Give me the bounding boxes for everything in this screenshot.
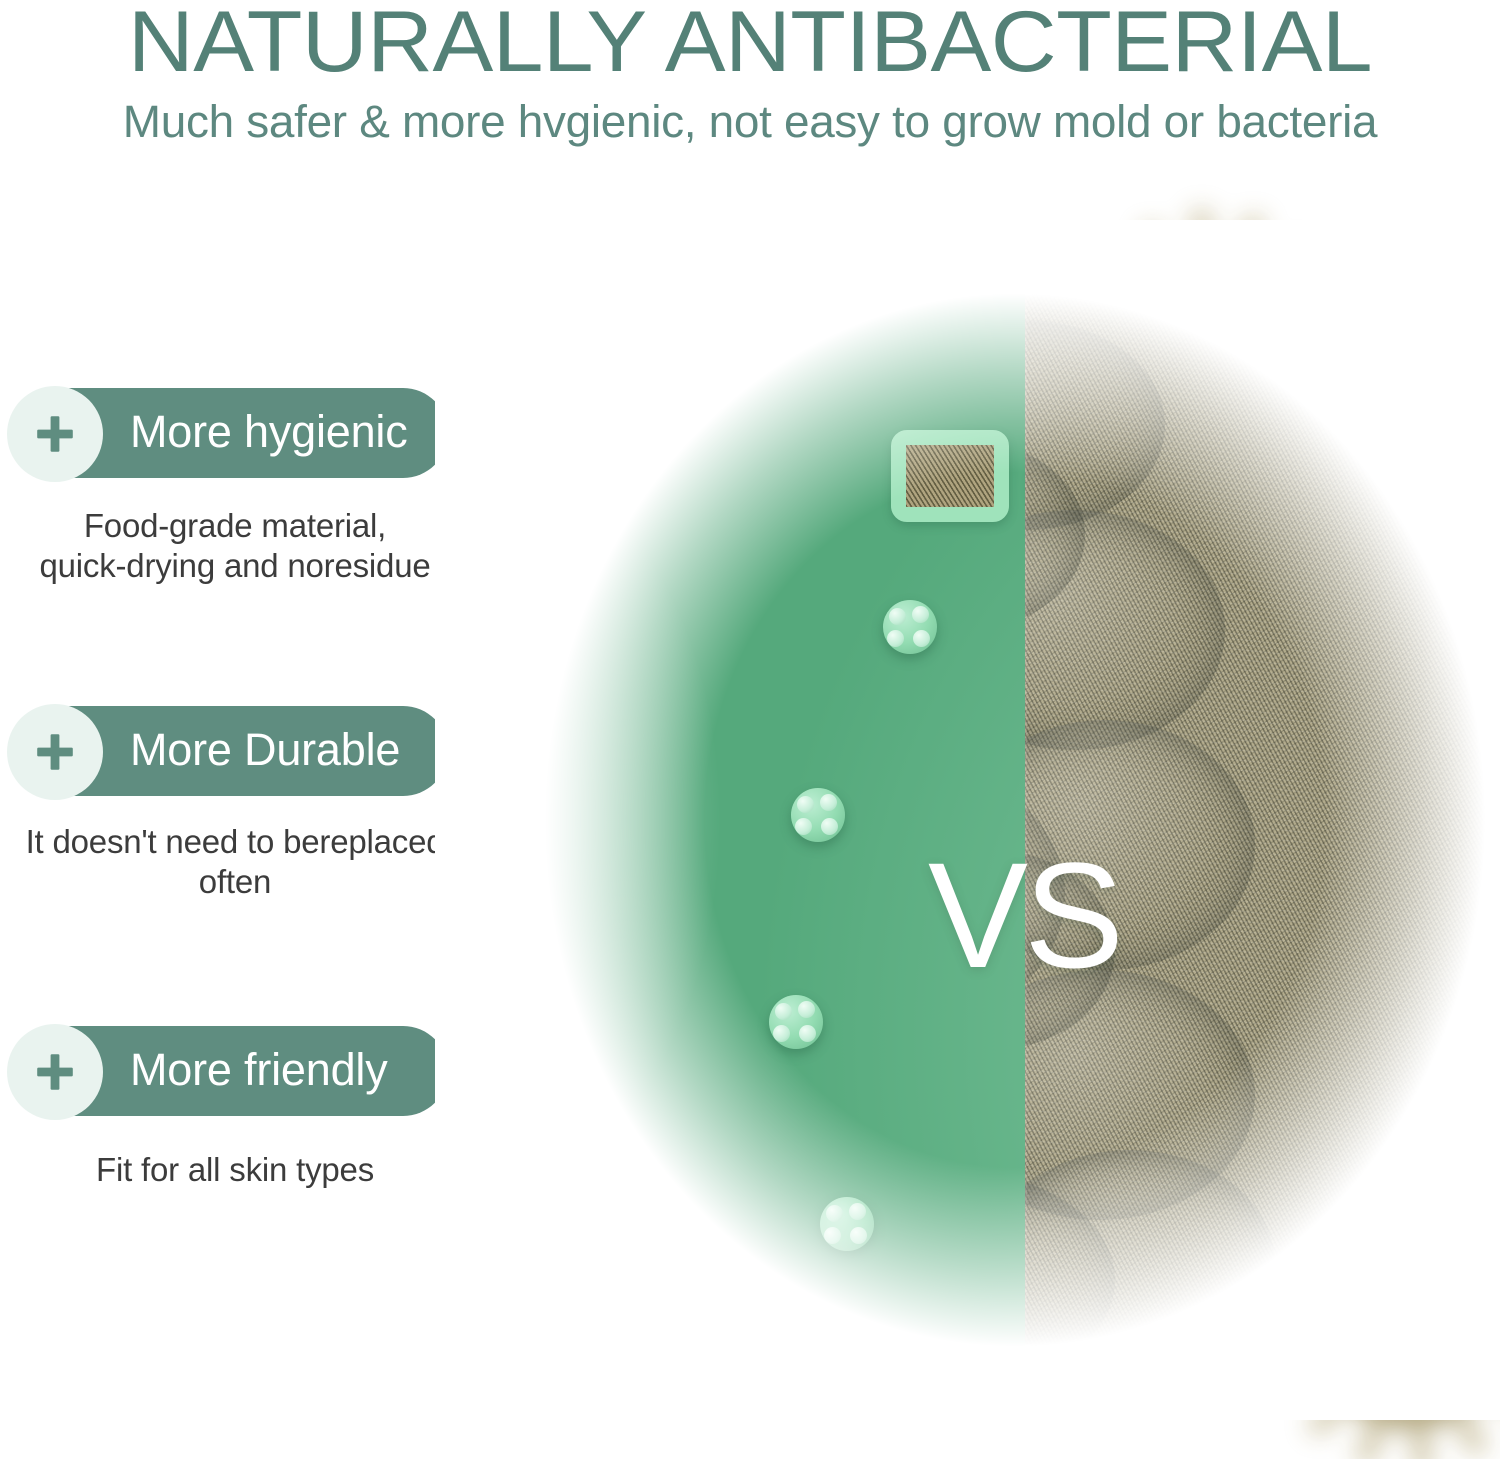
feature-label: More friendly <box>130 1046 388 1094</box>
scrubber-stud <box>769 995 823 1049</box>
vs-label: VS <box>899 840 1149 990</box>
feature-pill-more-hygienic: More hygienic <box>8 388 448 478</box>
plus-icon <box>7 1024 103 1120</box>
product-feature-banner: NATURALLY ANTIBACTERIAL Much safer & mor… <box>0 0 1500 1459</box>
scrubber-stud <box>820 1197 874 1251</box>
silicone-scrubber-photo <box>495 280 1025 1360</box>
feature-pill-more-friendly: More friendly <box>8 1026 448 1116</box>
feature-description: Fit for all skin types <box>0 1150 470 1190</box>
plus-icon <box>7 704 103 800</box>
hanging-hole <box>891 430 1009 522</box>
split-comparison-circle: VS <box>495 280 1495 1360</box>
plus-icon <box>7 386 103 482</box>
scrubber-stud <box>883 600 937 654</box>
comparison-divider <box>1025 280 1027 1360</box>
feature-label: More Durable <box>130 726 400 774</box>
feature-label: More hygienic <box>130 408 408 456</box>
feature-pill-more-durable: More Durable <box>8 706 448 796</box>
feature-description: It doesn't need to bereplaced often <box>0 822 470 902</box>
product-comparison-image: VS <box>455 170 1500 1459</box>
scrubber-stud <box>791 788 845 842</box>
feature-description: Food-grade material, quick-drying and no… <box>0 506 470 586</box>
feature-list: More hygienic Food-grade material, quick… <box>0 0 470 1459</box>
